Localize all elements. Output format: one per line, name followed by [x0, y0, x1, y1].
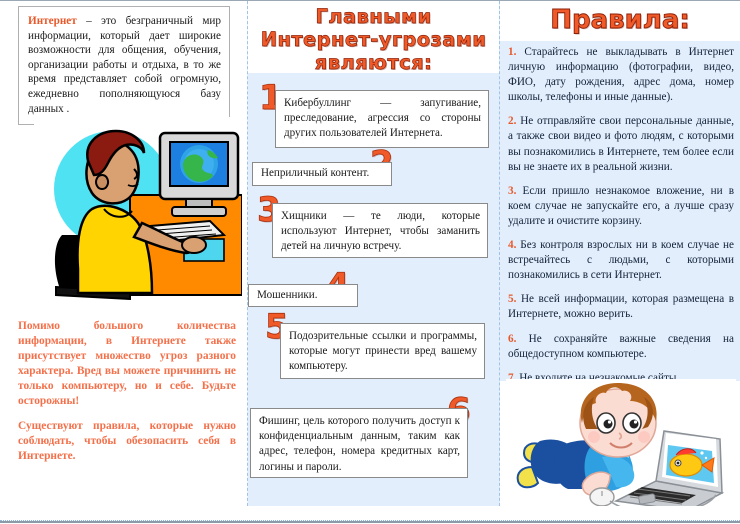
- boy-with-laptop-svg: [506, 379, 736, 519]
- rule-item-5: 5. Не всей информации, которая размещена…: [508, 292, 734, 322]
- threat-box-5: Подозрительные ссылки и программы, котор…: [280, 323, 485, 379]
- rule-text-2: Не отправляйте свои персональные данные,…: [508, 115, 734, 172]
- middle-column-title: Главными Интернет-угрозами являются:: [248, 5, 499, 74]
- title-line-1: Главными: [248, 5, 499, 28]
- rule-item-4: 4. Без контроля взрослых ни в коем случа…: [508, 238, 734, 283]
- rule-item-2: 2. Не отправляйте свои персональные данн…: [508, 114, 734, 174]
- threat-box-6: Фишинг, цель которого получить доступ к …: [250, 408, 468, 478]
- rule-text-4: Без контроля взрослых ни в коем случае н…: [508, 239, 734, 281]
- left-note-threats: Помимо большого количества информации, в…: [18, 319, 236, 409]
- left-note-rules: Существуют правила, которые нужно соблюд…: [18, 419, 236, 464]
- threat-text-2: Неприличный контент.: [261, 167, 369, 179]
- rule-text-5: Не всей информации, которая размещена в …: [508, 293, 734, 320]
- middle-column: Главными Интернет-угрозами являются: 1 К…: [248, 1, 500, 521]
- rule-text-3: Если пришло незнакомое вложение, ни в ко…: [508, 185, 734, 227]
- rule-item-3: 3. Если пришло незнакомое вложение, ни в…: [508, 184, 734, 229]
- intro-keyword: Интернет: [28, 15, 77, 27]
- intro-text: – это безграничный мир информации, котор…: [28, 15, 221, 115]
- rule-text-6: Не сохраняйте важные сведения на общедос…: [508, 333, 734, 360]
- threat-box-1: Кибербуллинг — запугивание, преследовани…: [275, 90, 489, 148]
- threat-text-5: Подозрительные ссылки и программы, котор…: [289, 330, 477, 372]
- threat-box-2: Неприличный контент.: [252, 162, 392, 186]
- threat-text-3: Хищники — те люди, которые используют Ин…: [281, 210, 480, 252]
- threat-text-1: Кибербуллинг — запугивание, преследовани…: [284, 97, 481, 139]
- threat-box-4: Мошенники.: [248, 284, 358, 307]
- boy-with-laptop-illustration: [506, 379, 736, 519]
- rule-item-1: 1. Старайтесь не выкладывать в Интернет …: [508, 45, 734, 105]
- left-column: Интернет – это безграничный мир информац…: [0, 1, 248, 521]
- rule-item-6: 6. Не сохраняйте важные сведения на обще…: [508, 332, 734, 362]
- threat-box-3: Хищники — те люди, которые используют Ин…: [272, 203, 488, 258]
- rules-list: 1. Старайтесь не выкладывать в Интернет …: [508, 45, 734, 419]
- brochure-page: Интернет – это безграничный мир информац…: [0, 0, 740, 523]
- page-bottom-strip: [0, 506, 740, 521]
- title-line-3: являются:: [248, 51, 499, 74]
- boy-at-computer-svg: [34, 117, 242, 309]
- rule-text-1: Старайтесь не выкладывать в Интернет лич…: [508, 46, 734, 103]
- right-column: Правила: 1. Старайтесь не выкладывать в …: [500, 1, 740, 521]
- boy-at-computer-illustration: [34, 117, 242, 309]
- title-line-2: Интернет-угрозами: [248, 28, 499, 51]
- intro-text-box: Интернет – это безграничный мир информац…: [18, 6, 230, 125]
- rules-title: Правила:: [500, 5, 740, 35]
- threat-text-4: Мошенники.: [257, 289, 318, 301]
- threat-text-6: Фишинг, цель которого получить доступ к …: [259, 415, 460, 473]
